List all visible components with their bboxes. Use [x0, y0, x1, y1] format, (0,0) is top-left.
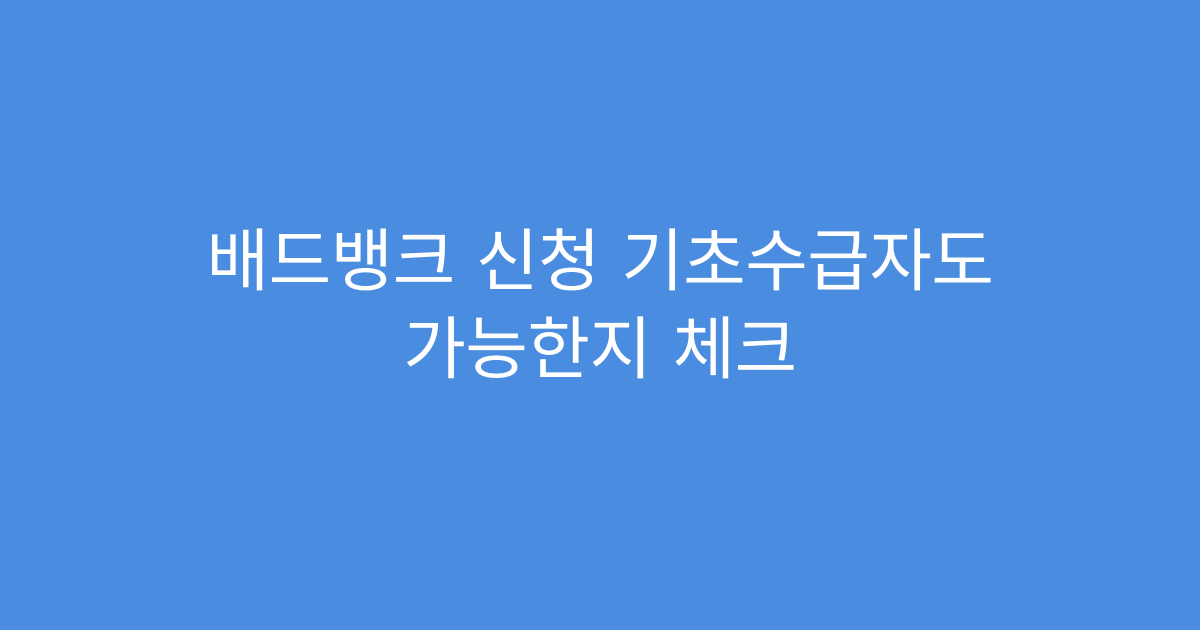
page-title: 배드뱅크 신청 기초수급자도 가능한지 체크 — [72, 219, 1128, 395]
headline-block: 배드뱅크 신청 기초수급자도 가능한지 체크 — [72, 219, 1128, 395]
og-card: 배드뱅크 신청 기초수급자도 가능한지 체크 — [0, 0, 1200, 630]
